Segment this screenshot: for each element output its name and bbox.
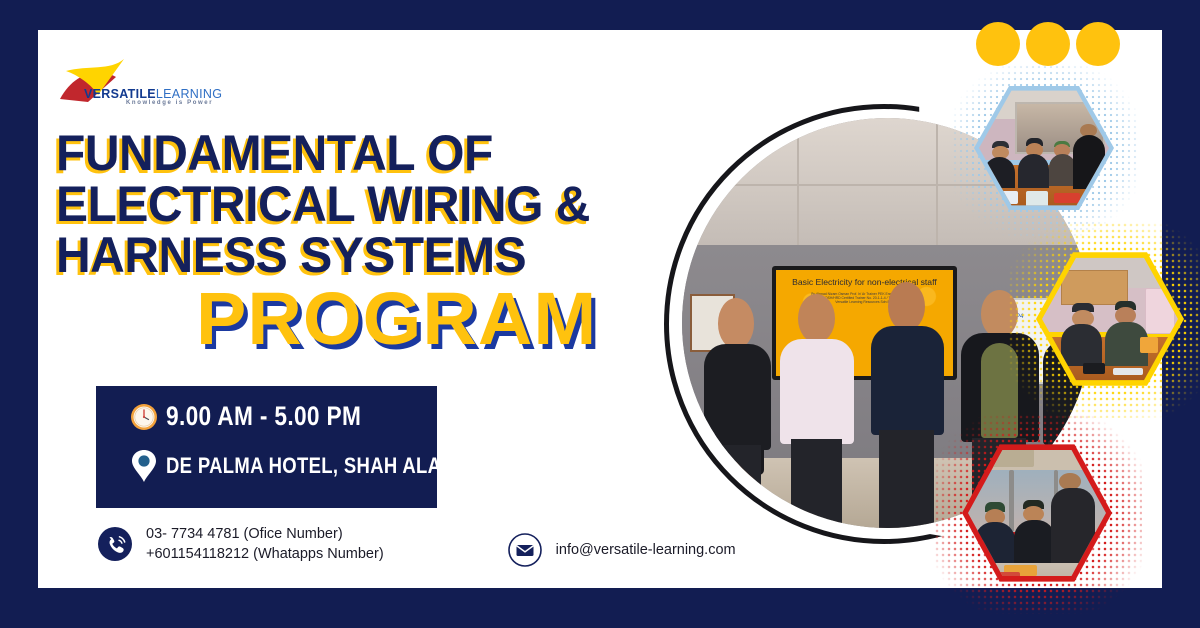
decor-dot-3 <box>1076 22 1120 66</box>
decor-dot-2 <box>1026 22 1070 66</box>
person-torso <box>780 339 854 444</box>
hex-photo-mid-image <box>1042 254 1178 384</box>
event-venue-label: DE PALMA HOTEL, SHAH ALAM <box>166 453 457 479</box>
person <box>780 294 854 528</box>
event-time-row: 9.00 AM - 5.00 PM <box>122 401 398 432</box>
person-head <box>718 298 754 349</box>
mini-prop <box>1083 363 1105 373</box>
logo-word-learning: LEARNING <box>156 87 222 101</box>
hex-photo-top-inner <box>979 87 1109 209</box>
mini-prop <box>1140 337 1158 353</box>
event-time-label: 9.00 AM - 5.00 PM <box>166 401 361 432</box>
phone-whatsapp: +601154118212 (Whatapps Number) <box>146 546 384 562</box>
mini-prop <box>996 572 1021 579</box>
email-icon <box>506 531 544 569</box>
hex-photo-top-image <box>979 87 1109 209</box>
mini-person <box>1051 488 1095 563</box>
mini-person <box>1073 135 1106 190</box>
contact-email[interactable]: info@versatile-learning.com <box>506 524 736 569</box>
ceiling-grid-line <box>936 118 938 245</box>
mini-person <box>1061 324 1102 366</box>
ceiling-grid-line <box>797 118 799 245</box>
event-venue-row: DE PALMA HOTEL, SHAH ALAM <box>122 449 513 483</box>
person-head <box>798 294 835 343</box>
contact-bar: 03- 7734 4781 (Ofice Number) +6011541182… <box>96 524 736 569</box>
mini-prop <box>1054 193 1080 203</box>
mini-blinds <box>979 449 1034 468</box>
hex-photo-bottom-image <box>968 446 1106 580</box>
clock-icon <box>122 402 166 432</box>
phone-office: 03- 7734 4781 (Ofice Number) <box>146 526 343 542</box>
hex-photo-bottom <box>962 440 1112 586</box>
hex-photo-top <box>974 82 1114 214</box>
mini-person <box>1014 520 1055 563</box>
contact-phone[interactable]: 03- 7734 4781 (Ofice Number) +6011541182… <box>96 524 384 564</box>
mini-fridge <box>1145 288 1174 334</box>
mini-window-frame <box>1009 470 1013 532</box>
hex-photo-bottom-inner <box>968 446 1106 580</box>
event-details-panel: 9.00 AM - 5.00 PM DE PALMA HOTEL, SHAH A… <box>96 386 437 508</box>
workshop-scene-1 <box>979 87 1109 209</box>
workshop-scene-3 <box>968 446 1106 580</box>
phone-icon <box>96 525 134 563</box>
mini-cabinet <box>1061 270 1128 306</box>
mini-ceiling <box>968 446 1106 470</box>
mini-person <box>984 157 1015 189</box>
logo-tagline: Knowledge is Power <box>126 100 213 106</box>
page-title: FUNDAMENTAL OF ELECTRICAL WIRING & HARNE… <box>56 128 696 281</box>
promo-banner: VERSATILELEARNING Knowledge is Power FUN… <box>0 0 1200 628</box>
phone-numbers: 03- 7734 4781 (Ofice Number) +6011541182… <box>146 524 384 564</box>
person <box>703 298 773 528</box>
headline-line-1: FUNDAMENTAL OF <box>56 128 670 179</box>
decor-dot-1 <box>976 22 1020 66</box>
mini-prop <box>995 191 1018 204</box>
map-pin-icon <box>122 449 166 483</box>
mini-prop <box>1113 368 1143 375</box>
person-legs <box>791 439 843 528</box>
email-address: info@versatile-learning.com <box>556 540 736 560</box>
person-torso <box>704 344 771 450</box>
workshop-scene-2 <box>1042 254 1178 384</box>
headline-line-3: HARNESS SYSTEMS <box>56 230 670 281</box>
headline-line-2: ELECTRICAL WIRING & <box>56 179 670 230</box>
hex-photo-mid <box>1036 248 1184 390</box>
person-head <box>888 282 925 331</box>
versatile-learning-logo: VERSATILELEARNING Knowledge is Power <box>58 55 208 111</box>
mini-person <box>1018 154 1049 188</box>
person-legs <box>879 430 934 528</box>
mini-prop <box>1026 191 1048 207</box>
hex-photo-mid-inner <box>1042 254 1178 384</box>
headline-emphasis-program: PROGRAM <box>196 282 597 356</box>
logo-word-versatile: VERSATILE <box>84 87 156 101</box>
mini-person <box>975 522 1015 562</box>
person-legs <box>712 445 761 528</box>
